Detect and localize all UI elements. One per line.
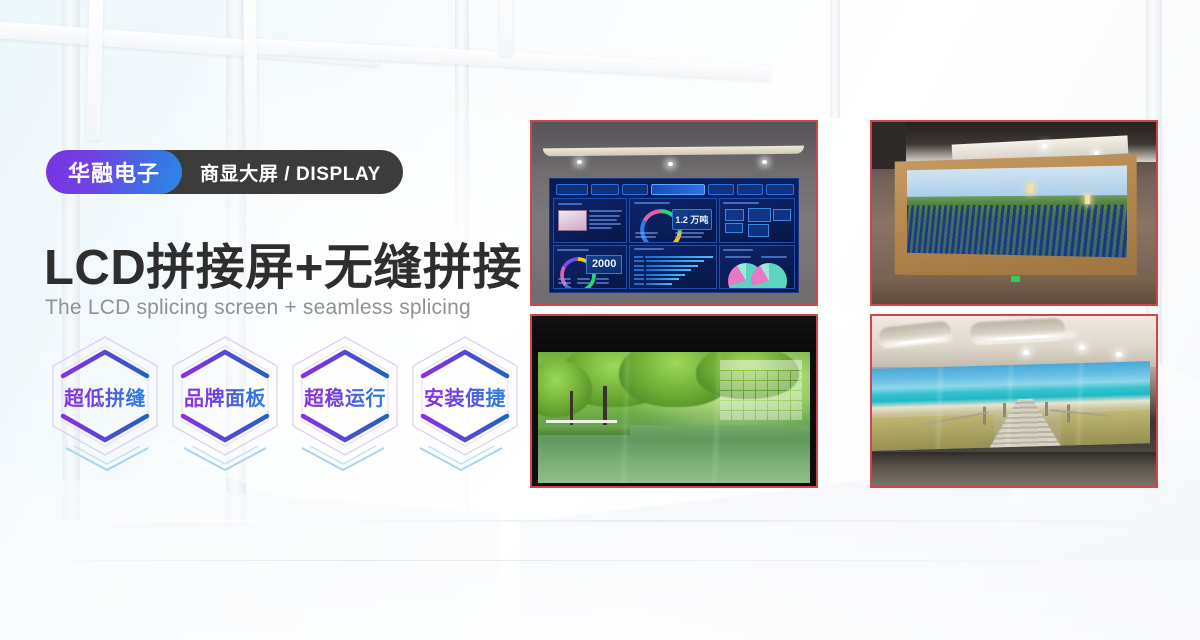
- gallery-photo-beach-boardwalk-wall: [870, 314, 1158, 488]
- gallery-photo-solar-farm-wall: [870, 120, 1158, 306]
- gallery-photo-willow-lake-wall: [530, 314, 818, 488]
- bg-beam: [243, 0, 258, 153]
- bg-column: [830, 0, 840, 118]
- bg-polygon: [0, 430, 500, 640]
- feature-label: 超低拼缝: [64, 382, 146, 411]
- bg-floor-line: [0, 560, 1200, 561]
- feature-label: 品牌面板: [184, 382, 266, 411]
- page-title: LCD拼接屏+无缝拼接: [44, 228, 522, 299]
- bg-floor-line: [0, 520, 1200, 522]
- beach-boardwalk-screen: [872, 361, 1150, 450]
- feature-item-3: 超稳运行: [287, 334, 403, 458]
- page-subtitle: The LCD splicing screen + seamless splic…: [45, 296, 471, 320]
- feature-item-2: 品牌面板: [167, 334, 283, 458]
- bg-beam: [86, 0, 103, 140]
- feature-item-1: 超低拼缝: [47, 334, 163, 458]
- bg-beam: [0, 19, 380, 67]
- gallery-photo-dashboard-wall: 1.2 万吨: [530, 120, 818, 306]
- feature-label: 超稳运行: [304, 382, 386, 411]
- solar-farm-screen: [907, 165, 1126, 257]
- dashboard-screen: 1.2 万吨: [549, 178, 799, 293]
- feature-label: 安装便捷: [424, 382, 506, 411]
- brand-badge: 华融电子: [46, 150, 182, 194]
- bg-beam: [500, 0, 512, 56]
- bg-beam: [250, 38, 770, 80]
- promo-banner: 华融电子 商显大屏 / DISPLAY LCD拼接屏+无缝拼接 The LCD …: [0, 0, 1200, 640]
- feature-list: 超低拼缝 品牌面板: [47, 334, 523, 458]
- feature-item-4: 安装便捷: [407, 334, 523, 458]
- brand-badge-group: 华融电子 商显大屏 / DISPLAY: [46, 150, 403, 194]
- willow-lake-screen: [538, 352, 811, 483]
